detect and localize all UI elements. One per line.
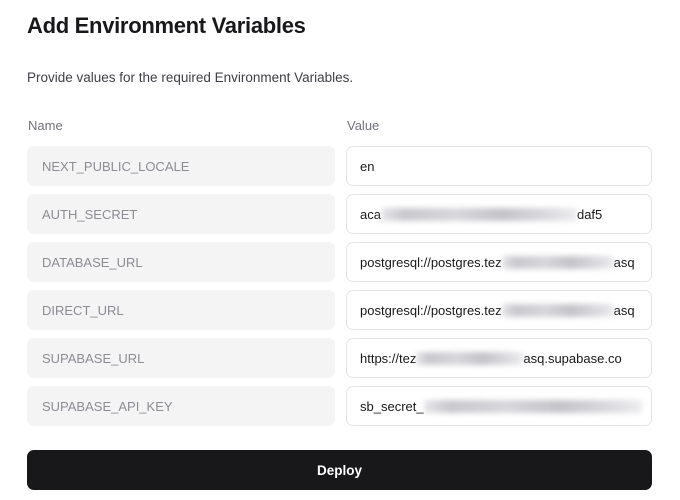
env-value-suffix: asq.supabase.co — [523, 351, 621, 366]
env-value-field[interactable]: en — [346, 146, 652, 186]
column-header-value: Value — [347, 118, 379, 133]
env-value-suffix: asq — [614, 303, 635, 318]
env-value-text: postgresql://postgres.tezasq — [360, 255, 635, 270]
env-variable-rows: NEXT_PUBLIC_LOCALEenAUTH_SECRETacadaf5DA… — [0, 146, 680, 434]
env-value-prefix: postgresql://postgres.tez — [360, 303, 502, 318]
redacted-value-mask — [381, 208, 577, 221]
env-value-text: acadaf5 — [360, 207, 602, 222]
env-value-prefix: aca — [360, 207, 381, 222]
env-name-field[interactable]: DATABASE_URL — [27, 242, 335, 282]
env-value-prefix: en — [360, 159, 374, 174]
env-value-text: postgresql://postgres.tezasq — [360, 303, 635, 318]
env-variable-row: AUTH_SECRETacadaf5 — [0, 194, 680, 234]
env-value-prefix: https://tez — [360, 351, 416, 366]
page-description: Provide values for the required Environm… — [27, 70, 353, 85]
env-value-text: https://tezasq.supabase.co — [360, 351, 622, 366]
env-value-field[interactable]: acadaf5 — [346, 194, 652, 234]
env-variable-row: NEXT_PUBLIC_LOCALEen — [0, 146, 680, 186]
env-value-text: sb_secret_ — [360, 399, 642, 414]
env-value-prefix: sb_secret_ — [360, 399, 424, 414]
env-value-prefix: postgresql://postgres.tez — [360, 255, 502, 270]
env-variable-row: SUPABASE_URLhttps://tezasq.supabase.co — [0, 338, 680, 378]
add-environment-variables-panel: Add Environment Variables Provide values… — [0, 0, 680, 500]
env-name-field[interactable]: NEXT_PUBLIC_LOCALE — [27, 146, 335, 186]
env-value-suffix: daf5 — [577, 207, 602, 222]
env-name-field[interactable]: SUPABASE_URL — [27, 338, 335, 378]
env-variable-row: SUPABASE_API_KEYsb_secret_ — [0, 386, 680, 426]
redacted-value-mask — [416, 352, 523, 365]
env-value-text: en — [360, 159, 374, 174]
env-value-field[interactable]: postgresql://postgres.tezasq — [346, 290, 652, 330]
deploy-button[interactable]: Deploy — [27, 450, 652, 490]
redacted-value-mask — [424, 400, 642, 413]
env-variable-row: DIRECT_URLpostgresql://postgres.tezasq — [0, 290, 680, 330]
env-name-field[interactable]: SUPABASE_API_KEY — [27, 386, 335, 426]
env-value-field[interactable]: sb_secret_ — [346, 386, 652, 426]
env-variable-row: DATABASE_URLpostgresql://postgres.tezasq — [0, 242, 680, 282]
env-name-field[interactable]: DIRECT_URL — [27, 290, 335, 330]
column-header-name: Name — [28, 118, 63, 133]
redacted-value-mask — [502, 256, 614, 269]
env-value-suffix: asq — [614, 255, 635, 270]
redacted-value-mask — [502, 304, 614, 317]
page-title: Add Environment Variables — [27, 13, 306, 39]
env-value-field[interactable]: postgresql://postgres.tezasq — [346, 242, 652, 282]
env-name-field[interactable]: AUTH_SECRET — [27, 194, 335, 234]
env-value-field[interactable]: https://tezasq.supabase.co — [346, 338, 652, 378]
